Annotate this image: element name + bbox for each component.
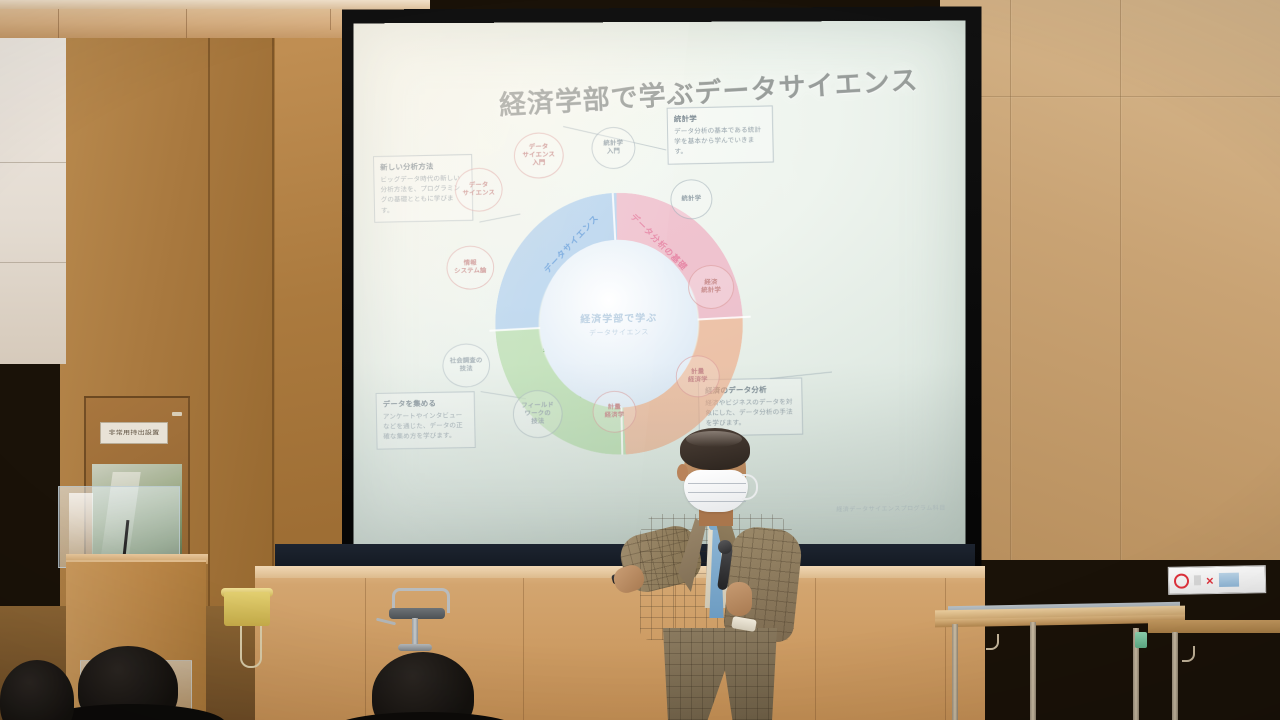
bubble-social-survey-method: 社会調査の 技法 xyxy=(442,343,490,388)
door-sign: 非常用持出設置 xyxy=(100,422,168,444)
bubble-information-systems: 情報 システム論 xyxy=(446,245,495,290)
sign-photo-thumb xyxy=(1218,573,1238,587)
sign-divider xyxy=(1194,575,1201,585)
yellow-bin xyxy=(224,592,270,626)
presenter xyxy=(600,418,830,720)
table-leg-1 xyxy=(952,624,958,720)
face-mask xyxy=(684,470,748,512)
donut-center-line1: 経済学部で学ぶ xyxy=(580,309,657,325)
presenter-right-hand xyxy=(726,582,752,616)
callout-title: データを集める xyxy=(383,397,468,409)
right-wall xyxy=(940,0,1280,560)
callout-title: 統計学 xyxy=(674,112,766,125)
callout-body: アンケートやインタビューなどを通じた、データの正確な集め方を学びます。 xyxy=(383,411,469,443)
usage-notice-sign: × xyxy=(1168,565,1266,595)
table-leg-4 xyxy=(1172,632,1178,720)
right-wall-seam-1 xyxy=(1010,0,1012,560)
microphone-head-icon xyxy=(718,540,732,554)
callout-body: ビッグデータ時代の新しい分析方法を、プログラミングの基礎とともに学びます。 xyxy=(380,174,466,216)
door-sign-label: 非常用持出設置 xyxy=(108,429,159,437)
table-green-cap xyxy=(1135,632,1147,648)
callout-collecting-data: データを集める アンケートやインタビューなどを通じた、データの正確な集め方を学び… xyxy=(376,391,476,449)
stool-post xyxy=(412,618,418,646)
right-wall-seam-2 xyxy=(1120,0,1122,560)
door-handle-icon[interactable] xyxy=(172,412,182,416)
table-right-top xyxy=(1148,620,1280,633)
bubble-data-science-intro: データ サイエンス 入門 xyxy=(513,132,564,179)
slide-credit: 経済データサイエンスプログラム科目 xyxy=(836,503,945,514)
callout-statistics: 統計学 データ分析の基本である統計学を基本から学んでいきます。 xyxy=(667,105,774,164)
stool-base xyxy=(398,644,432,651)
screenshot-root: 非常用持出設置 経済学部で学ぶデータサイエンス 新しい分析方法 ビッグデータ時代… xyxy=(0,0,1280,720)
face-mask-strap xyxy=(742,474,758,500)
callout-body: データ分析の基本である統計学を基本から学んでいきます。 xyxy=(674,126,767,159)
cross-no-icon: × xyxy=(1206,574,1214,587)
circle-ok-icon xyxy=(1174,573,1189,588)
table-leg-2 xyxy=(1030,622,1036,720)
hose-coil xyxy=(240,626,262,668)
donut-center-line2: データサイエンス xyxy=(589,327,649,338)
callout-title: 新しい分析方法 xyxy=(380,160,465,173)
right-wall-seam-3 xyxy=(940,96,1280,98)
presenter-trousers xyxy=(658,628,782,720)
bubble-statistics-intro: 統計学 入門 xyxy=(591,126,636,169)
left-white-wall xyxy=(0,34,66,364)
